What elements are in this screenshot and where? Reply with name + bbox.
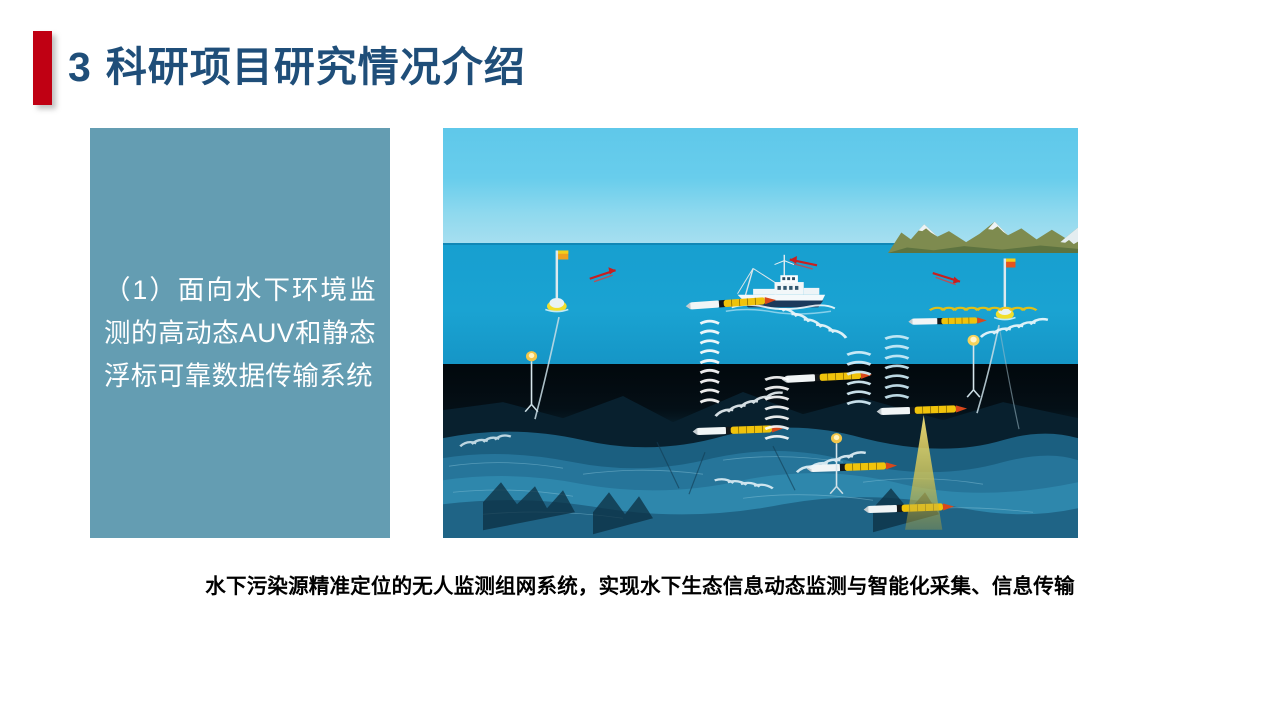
acoustic-wave-icon (843, 349, 875, 415)
acoustic-wave-icon (716, 308, 856, 365)
acoustic-wave-icon (710, 464, 786, 509)
underwater-network-illustration (443, 128, 1078, 538)
sonar-beam-cone (900, 415, 951, 530)
figure-caption: 水下污染源精准定位的无人监测组网系统，实现水下生态信息动态监测与智能化采集、信息… (0, 572, 1280, 602)
page-title: 3科研项目研究情况介绍 (68, 36, 526, 98)
acoustic-wave-icon (881, 333, 913, 407)
title-accent-bar (33, 31, 52, 105)
title-number: 3 (68, 44, 92, 90)
acoustic-wave-icon (456, 423, 520, 460)
acoustic-wave-icon (926, 300, 1040, 321)
seabed-lander-icon (522, 349, 541, 415)
seabed-lander-icon (827, 431, 846, 497)
description-panel: （1）面向水下环境监测的高动态AUV和静态浮标可靠数据传输系统 (90, 128, 390, 538)
slide-header: 3科研项目研究情况介绍 (0, 0, 1280, 128)
description-text: （1）面向水下环境监测的高动态AUV和静态浮标可靠数据传输系统 (104, 269, 376, 398)
title-label: 科研项目研究情况介绍 (106, 44, 526, 90)
seabed-lander-icon (964, 333, 983, 399)
slide-root: 3科研项目研究情况介绍 （1）面向水下环境监测的高动态AUV和静态浮标可靠数据传… (0, 0, 1280, 720)
acoustic-wave-icon (710, 382, 786, 431)
